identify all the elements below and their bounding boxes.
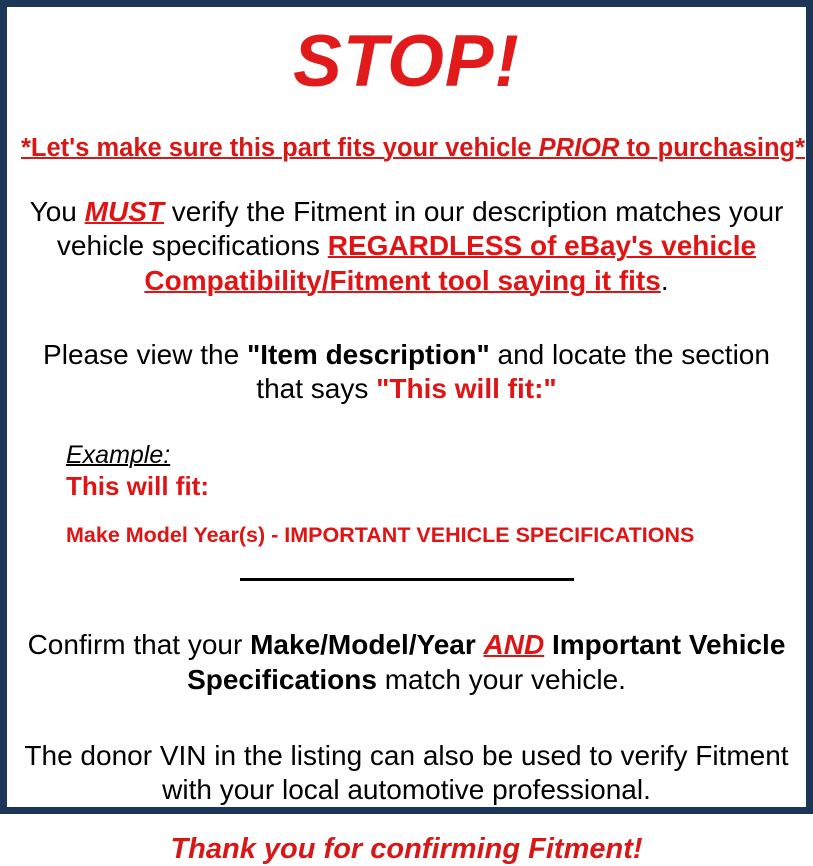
- item-description-paragraph: Please view the "Item description" and l…: [21, 338, 792, 406]
- headline-banner: *Let's make sure this part fits your veh…: [21, 134, 792, 163]
- example-label: Example:: [66, 442, 170, 470]
- confirm-text-part3: [544, 629, 552, 660]
- make-model-year-emphasis: Make/Model/Year: [250, 629, 476, 660]
- must-verify-paragraph: You MUST verify the Fitment in our descr…: [21, 195, 792, 297]
- donor-vin-paragraph: The donor VIN in the listing can also be…: [21, 739, 792, 807]
- headline-tail: to purchasing*: [619, 134, 805, 162]
- stop-title: STOP!: [21, 25, 792, 98]
- example-fit-heading: This will fit:: [66, 472, 792, 502]
- this-will-fit-emphasis: "This will fit:": [376, 373, 557, 404]
- confirm-paragraph: Confirm that your Make/Model/Year AND Im…: [21, 628, 792, 696]
- example-block: Example: This will fit: Make Model Year(…: [21, 442, 792, 548]
- confirm-text-part4: match your vehicle.: [377, 664, 626, 695]
- thank-you-message: Thank you for confirming Fitment!: [21, 833, 792, 866]
- must-emphasis: MUST: [85, 196, 164, 227]
- headline-lead: *Let's make sure this part fits your veh…: [21, 134, 539, 162]
- must-text-part1: You: [30, 196, 85, 227]
- and-emphasis: AND: [484, 629, 545, 660]
- example-label-row: Example:: [66, 442, 792, 470]
- section-divider: [240, 578, 574, 581]
- view-text-part1: Please view the: [43, 339, 247, 370]
- confirm-text-part1: Confirm that your: [28, 629, 251, 660]
- fitment-notice-card: STOP! *Let's make sure this part fits yo…: [0, 0, 813, 814]
- must-text-part3: .: [661, 265, 669, 296]
- confirm-text-part2: [476, 629, 484, 660]
- section-divider-wrap: [21, 570, 792, 588]
- item-description-emphasis: "Item description": [247, 339, 490, 370]
- headline-emphasis-prior: PRIOR: [539, 134, 620, 162]
- example-spec-line: Make Model Year(s) - IMPORTANT VEHICLE S…: [66, 523, 792, 548]
